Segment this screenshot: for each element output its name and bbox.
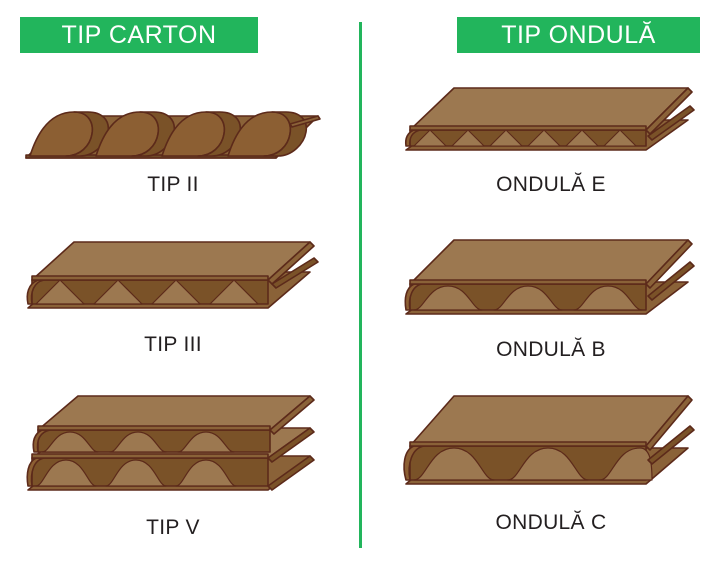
illustration-double-wall-board [18, 386, 328, 506]
item-ondula-c: ONDULĂ C [386, 386, 716, 535]
caption-tip-2: TIP II [8, 173, 338, 197]
illustration-single-face-board [18, 72, 328, 167]
caption-ondula-b: ONDULĂ B [386, 338, 716, 362]
item-ondula-e: ONDULĂ E [386, 72, 716, 197]
caption-tip-3: TIP III [8, 333, 338, 357]
illustration-c-flute-board [396, 386, 706, 501]
caption-ondula-c: ONDULĂ C [386, 511, 716, 535]
header-band-tip-ondula: TIP ONDULĂ [457, 17, 700, 53]
caption-ondula-e: ONDULĂ E [386, 173, 716, 197]
column-divider [359, 22, 362, 548]
illustration-single-wall-board [18, 228, 328, 323]
item-ondula-b: ONDULĂ B [386, 228, 716, 362]
header-band-tip-carton: TIP CARTON [20, 17, 258, 53]
illustration-b-flute-board [396, 228, 706, 328]
item-tip-3: TIP III [8, 228, 338, 357]
header-label-tip-ondula: TIP ONDULĂ [501, 21, 656, 50]
item-tip-5: TIP V [8, 386, 338, 540]
header-label-tip-carton: TIP CARTON [61, 21, 216, 50]
cardboard-types-infographic: TIP CARTON TIP ONDULĂ [0, 0, 720, 564]
illustration-e-flute-board [396, 72, 706, 167]
item-tip-2: TIP II [8, 72, 338, 197]
caption-tip-5: TIP V [8, 516, 338, 540]
